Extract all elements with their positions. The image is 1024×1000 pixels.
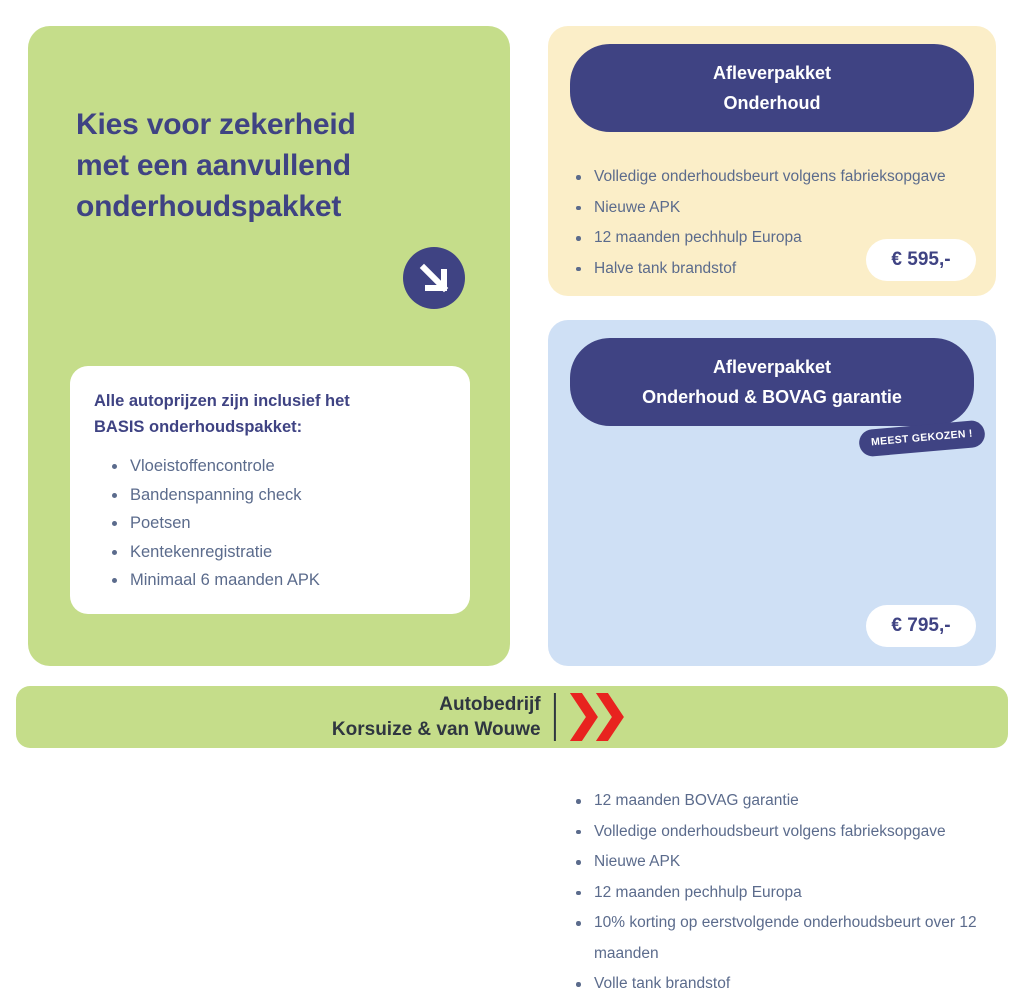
company-name-line-2: Korsuize & van Wouwe [332,717,541,742]
package-header-line-2: Onderhoud & BOVAG garantie [580,382,964,412]
package-feature-list: 12 maanden BOVAG garantie Volledige onde… [570,786,980,1000]
basic-package-title: Alle autoprijzen zijn inclusief het BASI… [94,388,446,440]
page-title: Kies voor zekerheid met een aanvullend o… [76,104,436,227]
list-item: Minimaal 6 maanden APK [108,566,446,595]
package-card-onderhoud: Afleverpakket Onderhoud Volledige onderh… [548,26,996,296]
list-item: Poetsen [108,509,446,538]
basic-package-list: Vloeistoffencontrole Bandenspanning chec… [94,452,446,595]
company-logo: Autobedrijf Korsuize & van Wouwe [332,691,628,743]
package-card-onderhoud-bovag: Afleverpakket Onderhoud & BOVAG garantie… [548,320,996,666]
package-header-line-1: Afleverpakket [580,58,964,88]
list-item: Vloeistoffencontrole [108,452,446,481]
package-header: Afleverpakket Onderhoud [570,44,974,132]
arrow-down-right-icon [403,247,465,309]
list-item: 10% korting op eerstvolgende onderhoudsb… [570,908,980,969]
headline-line-1: Kies voor zekerheid [76,104,436,145]
basic-package-card: Alle autoprijzen zijn inclusief het BASI… [70,366,470,614]
basic-package-title-line-1: Alle autoprijzen zijn inclusief het [94,388,446,414]
price-badge: € 795,- [866,605,976,647]
footer-bar: Autobedrijf Korsuize & van Wouwe [16,686,1008,748]
list-item: Volledige onderhoudsbeurt volgens fabrie… [570,817,980,848]
list-item: Volle tank brandstof [570,969,980,1000]
list-item: Bandenspanning check [108,481,446,510]
headline-line-3: onderhoudspakket [76,186,436,227]
double-chevron-right-icon [556,691,628,743]
package-header: Afleverpakket Onderhoud & BOVAG garantie [570,338,974,426]
list-item: 12 maanden pechhulp Europa [570,878,980,909]
package-header-line-1: Afleverpakket [580,352,964,382]
company-name: Autobedrijf Korsuize & van Wouwe [332,692,554,742]
package-header-line-2: Onderhoud [580,88,964,118]
intro-panel: Kies voor zekerheid met een aanvullend o… [28,26,510,666]
company-name-line-1: Autobedrijf [332,692,541,717]
promo-page: Kies voor zekerheid met een aanvullend o… [0,0,1024,768]
list-item: Nieuwe APK [570,847,980,878]
headline-line-2: met een aanvullend [76,145,436,186]
list-item: 12 maanden BOVAG garantie [570,786,980,817]
list-item: Volledige onderhoudsbeurt volgens fabrie… [570,162,980,193]
price-badge: € 595,- [866,239,976,281]
basic-package-title-line-2: BASIS onderhoudspakket: [94,414,446,440]
list-item: Nieuwe APK [570,193,980,224]
list-item: Kentekenregistratie [108,538,446,567]
